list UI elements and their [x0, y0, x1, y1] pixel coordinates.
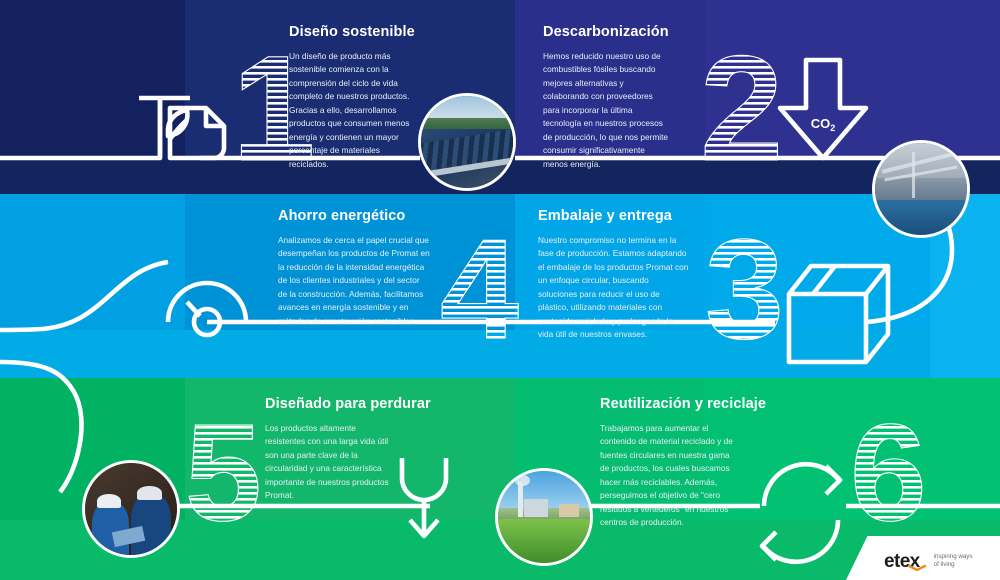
- infographic-canvas: 1 2 4 3 5 6: [0, 0, 1000, 580]
- svg-text:2: 2: [700, 24, 783, 192]
- etex-tagline: inspiring ways of living: [934, 553, 973, 570]
- step-1-body: Un diseño de producto más sostenible com…: [289, 50, 414, 171]
- step-panel-1: Diseño sostenible Un diseño de producto …: [289, 24, 415, 171]
- svg-text:4: 4: [440, 210, 519, 369]
- etex-tagline-line2: of living: [934, 561, 973, 569]
- etex-logo: etex inspiring ways of living: [884, 548, 1000, 574]
- step-4-body: Analizamos de cerca el papel crucial que…: [278, 234, 430, 328]
- workers-photo: [82, 460, 180, 558]
- step-panel-3: Embalaje y entrega Nuestro compromiso no…: [538, 208, 690, 342]
- step-panel-2: Descarbonización Hemos reducido nuestro …: [543, 24, 669, 171]
- svg-text:6: 6: [850, 396, 927, 550]
- co2-down-arrow-icon: [780, 60, 866, 158]
- step-panel-6: Reutilización y reciclaje Trabajamos par…: [600, 396, 766, 530]
- document-leaf-icon: [139, 98, 224, 158]
- factory-interior-photo: [872, 140, 970, 238]
- recycle-arrows-icon: [762, 464, 840, 562]
- numeral-4: 4: [440, 210, 519, 369]
- numeral-2: 2: [700, 24, 783, 192]
- etex-tagline-line1: inspiring ways: [934, 553, 973, 561]
- etex-x-accent-icon: [908, 557, 926, 571]
- solar-panels-photo: [418, 93, 516, 191]
- svg-text:5: 5: [185, 396, 262, 550]
- package-box-icon: [789, 266, 888, 362]
- gauge-icon: [168, 283, 246, 335]
- step-3-title: Embalaje y entrega: [538, 208, 690, 224]
- step-5-title: Diseñado para perdurar: [265, 396, 431, 412]
- step-5-body: Los productos altamente resistentes con …: [265, 422, 390, 503]
- numeral-6: 6: [850, 396, 927, 550]
- green-field-factory-photo: [495, 468, 593, 566]
- co2-label: CO2: [811, 116, 836, 133]
- step-panel-5: Diseñado para perdurar Los productos alt…: [265, 396, 431, 503]
- step-4-title: Ahorro energético: [278, 208, 430, 224]
- numeral-5: 5: [185, 396, 262, 550]
- numeral-3: 3: [705, 210, 784, 369]
- step-panel-4: Ahorro energético Analizamos de cerca el…: [278, 208, 430, 328]
- step-6-body: Trabajamos para aumentar el contenido de…: [600, 422, 740, 530]
- svg-text:3: 3: [705, 210, 784, 369]
- step-3-body: Nuestro compromiso no termina en la fase…: [538, 234, 690, 342]
- step-6-title: Reutilización y reciclaje: [600, 396, 766, 412]
- step-2-body: Hemos reducido nuestro uso de combustibl…: [543, 50, 668, 171]
- step-2-title: Descarbonización: [543, 24, 669, 40]
- step-1-title: Diseño sostenible: [289, 24, 415, 40]
